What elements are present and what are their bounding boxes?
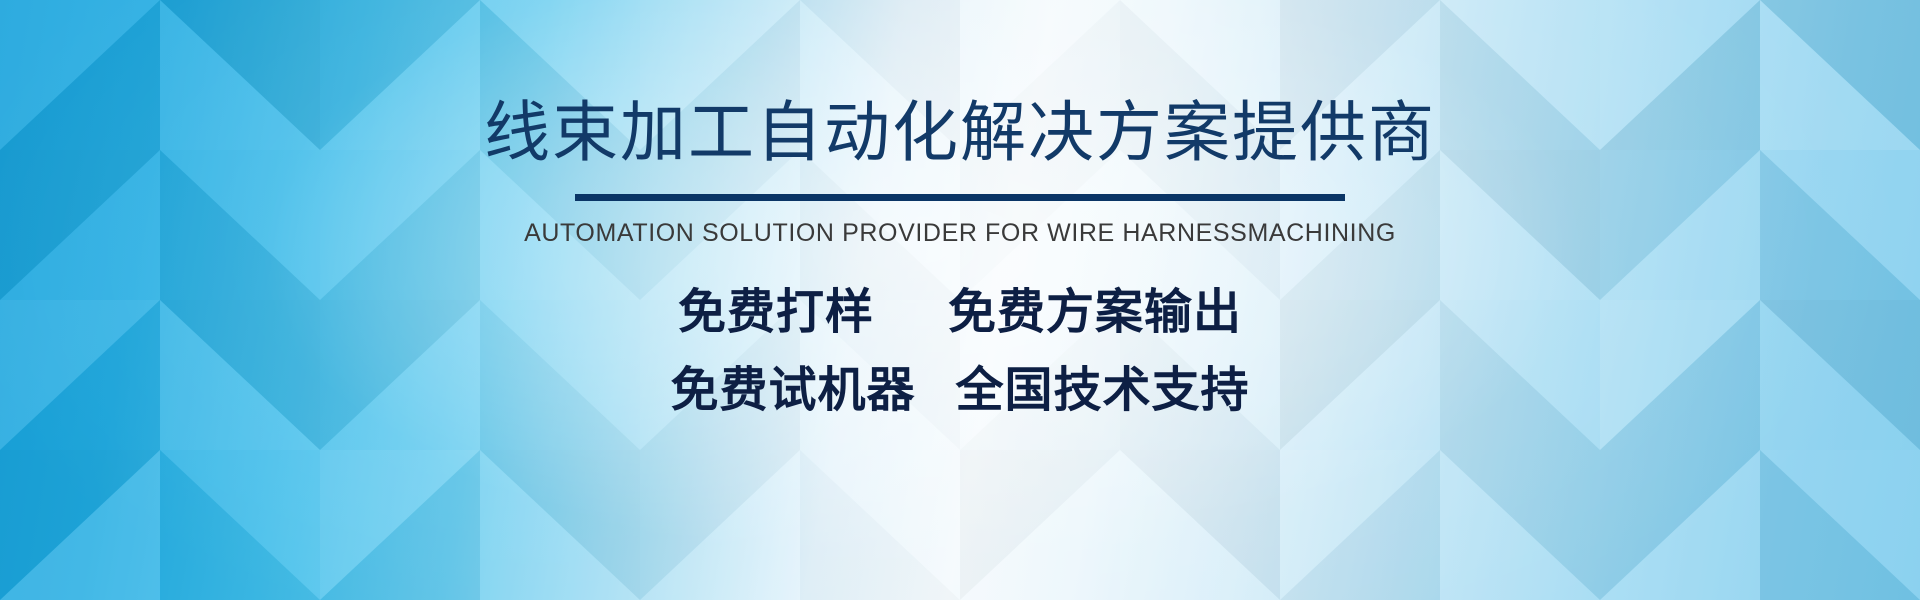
service-item: 全国技术支持 xyxy=(956,360,1250,422)
service-item: 免费方案输出 xyxy=(948,282,1242,344)
service-row: 免费打样 免费方案输出 xyxy=(678,282,1242,344)
service-row: 免费试机器 全国技术支持 xyxy=(670,360,1249,422)
service-item: 免费试机器 xyxy=(670,360,915,422)
service-highlights: 免费打样 免费方案输出 免费试机器 全国技术支持 xyxy=(670,282,1249,423)
service-item: 免费打样 xyxy=(678,282,874,344)
hero-banner: 线束加工自动化解决方案提供商 AUTOMATION SOLUTION PROVI… xyxy=(0,0,1920,600)
banner-headline: 线束加工自动化解决方案提供商 xyxy=(484,96,1436,170)
banner-content: 线束加工自动化解决方案提供商 AUTOMATION SOLUTION PROVI… xyxy=(0,0,1920,600)
banner-subline: AUTOMATION SOLUTION PROVIDER FOR WIRE HA… xyxy=(524,219,1396,248)
headline-divider xyxy=(575,194,1345,201)
